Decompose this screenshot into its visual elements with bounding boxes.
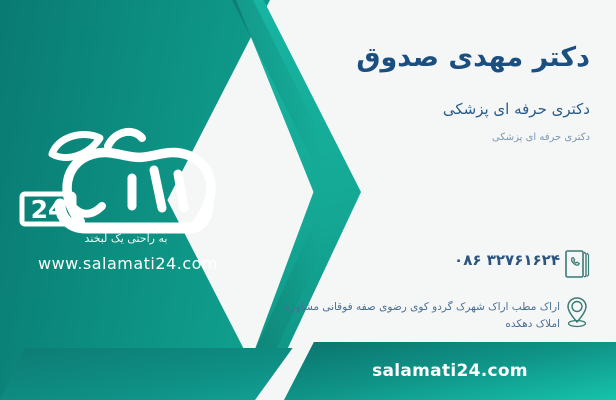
- svg-text:24: 24: [31, 195, 66, 224]
- phone-book-icon: [560, 246, 594, 282]
- salamati24-logo: 24 به راحتی یک لبخند www.salamati24.com: [12, 108, 252, 283]
- doctor-name: دکتر مهدی صدوق: [356, 42, 590, 73]
- logo-tagline: به راحتی یک لبخند: [12, 232, 240, 245]
- logo-url[interactable]: www.salamati24.com: [12, 254, 244, 273]
- contact-block: ۳۲۷۶۱۶۲۴ ۰۸۶ اراک مطب اراک شهرک گردو کوی…: [264, 246, 594, 346]
- business-card: 24 به راحتی یک لبخند www.salamati24.com …: [0, 0, 616, 400]
- phone-number[interactable]: ۳۲۷۶۱۶۲۴ ۰۸۶: [264, 246, 560, 269]
- doctor-specialty: دکتری حرفه ای پزشکی: [443, 100, 590, 118]
- contact-row-phone: ۳۲۷۶۱۶۲۴ ۰۸۶: [264, 246, 594, 282]
- doctor-specialty-secondary: دکتری حرفه ای پزشکی: [492, 132, 590, 143]
- footer-website[interactable]: salamati24.com: [284, 342, 616, 400]
- address-text: اراک مطب اراک شهرک گردو کوی رضوی صفه فوق…: [264, 294, 560, 334]
- location-pin-icon: [560, 294, 594, 330]
- contact-row-address: اراک مطب اراک شهرک گردو کوی رضوی صفه فوق…: [264, 294, 594, 334]
